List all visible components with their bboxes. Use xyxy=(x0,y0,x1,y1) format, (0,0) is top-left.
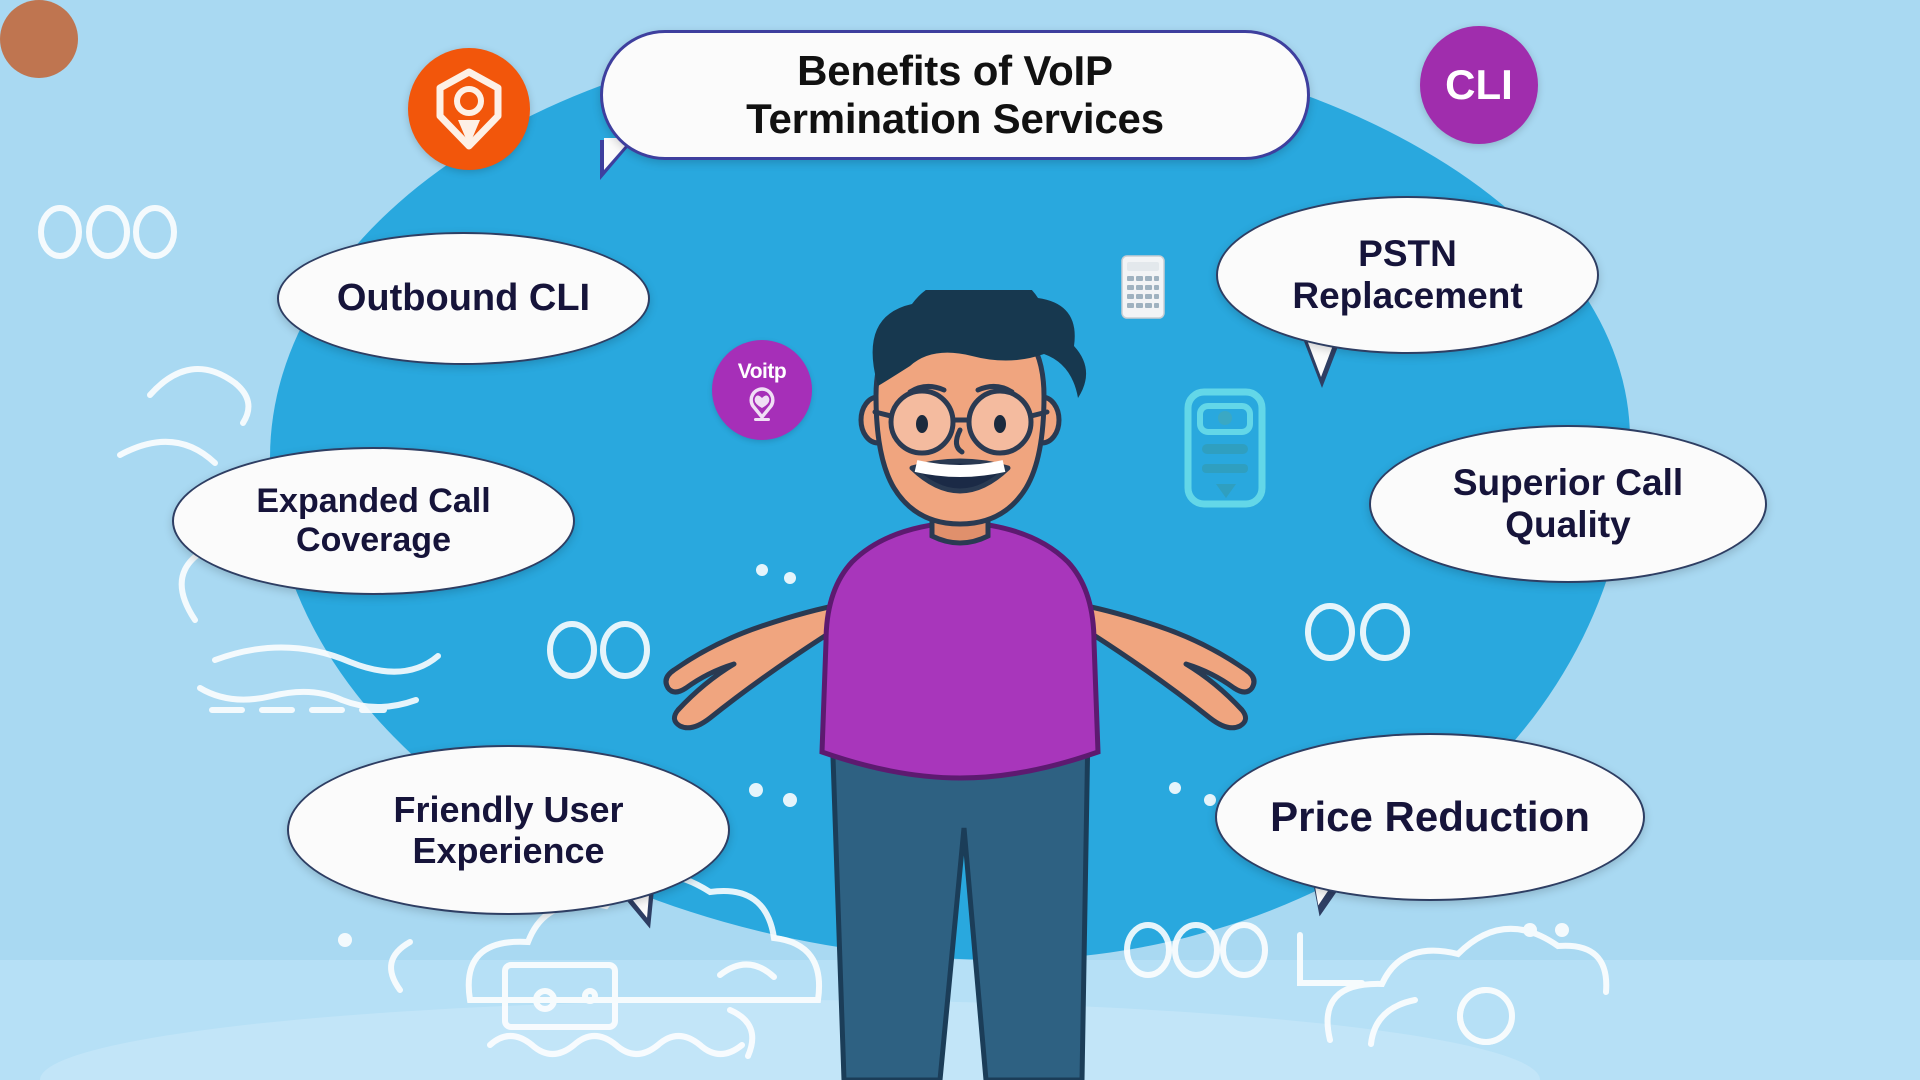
benefit-bubble-outbound-cli[interactable]: Outbound CLI xyxy=(277,232,650,365)
title-line-2: Termination Services xyxy=(746,95,1164,143)
benefit-bubble-price-reduction[interactable]: Price Reduction xyxy=(1215,733,1645,901)
voitp-badge-label: Voitp xyxy=(738,360,786,384)
voitp-badge: Voitp xyxy=(712,340,812,440)
benefit-label-pstn-line-2: Replacement xyxy=(1292,275,1522,317)
cli-badge: CLI xyxy=(1420,26,1538,144)
benefit-label-price-reduction: Price Reduction xyxy=(1270,793,1590,841)
benefit-label-pstn-line-1: PSTN xyxy=(1292,233,1522,275)
benefit-label-friendly-line-1: Friendly User xyxy=(393,789,623,830)
benefit-bubble-expanded-call-coverage[interactable]: Expanded Call Coverage xyxy=(172,447,575,595)
title-bubble: Benefits of VoIP Termination Services xyxy=(600,30,1310,160)
benefit-label-friendly-line-2: Experience xyxy=(393,830,623,871)
map-pin-icon xyxy=(745,385,779,421)
benefit-bubble-pstn-replacement[interactable]: PSTN Replacement xyxy=(1216,196,1599,354)
benefit-label-outbound-cli: Outbound CLI xyxy=(337,277,590,320)
benefit-label-superior-line-1: Superior Call xyxy=(1453,462,1683,504)
benefit-bubble-superior-call-quality[interactable]: Superior Call Quality xyxy=(1369,425,1767,583)
calculator-icon-badge xyxy=(0,0,78,78)
benefit-bubble-friendly-user-experience[interactable]: Friendly User Experience xyxy=(287,745,730,915)
character-illustration xyxy=(560,290,1360,1080)
benefit-label-expanded-line-1: Expanded Call xyxy=(256,482,490,521)
location-pin-logo-icon xyxy=(428,66,510,152)
title-line-1: Benefits of VoIP xyxy=(746,47,1164,95)
benefit-label-expanded-line-2: Coverage xyxy=(256,521,490,560)
benefit-label-superior-line-2: Quality xyxy=(1453,504,1683,546)
orange-logo-badge xyxy=(408,48,530,170)
infographic-canvas: CLI Voitp Benefits of VoIP Termination S… xyxy=(0,0,1920,1080)
cli-badge-label: CLI xyxy=(1445,61,1513,109)
